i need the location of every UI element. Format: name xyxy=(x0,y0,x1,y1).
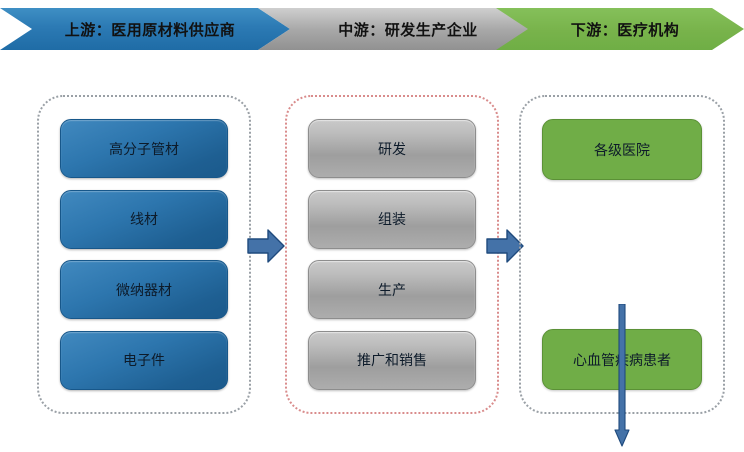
banner-segment-label: 下游：医疗机构 xyxy=(561,19,680,40)
node-label: 线材 xyxy=(130,209,158,229)
process-banner: 上游：医用原材料供应商 中游：研发生产企业 下游：医疗机构 xyxy=(0,8,744,50)
node-label: 生产 xyxy=(378,280,406,300)
node-promotion-and-sales[interactable]: 推广和销售 xyxy=(308,331,476,390)
column-downstream: 各级医院 心血管疾病患者 xyxy=(519,95,725,414)
node-label: 研发 xyxy=(378,139,406,159)
node-production[interactable]: 生产 xyxy=(308,260,476,319)
node-label: 各级医院 xyxy=(594,140,650,160)
node-assembly[interactable]: 组装 xyxy=(308,190,476,249)
node-label: 组装 xyxy=(378,209,406,229)
banner-segment-midstream[interactable]: 中游：研发生产企业 xyxy=(258,8,548,50)
node-label: 高分子管材 xyxy=(109,139,179,159)
arrow-upstream-to-midstream-icon xyxy=(246,228,286,264)
node-research-development[interactable]: 研发 xyxy=(308,119,476,178)
banner-segment-label: 上游：医用原材料供应商 xyxy=(55,19,236,40)
arrow-hospital-to-patient-icon xyxy=(614,304,630,447)
banner-segment-label: 中游：研发生产企业 xyxy=(328,19,478,40)
node-stack-downstream: 各级医院 心血管疾病患者 xyxy=(542,119,702,390)
node-label: 电子件 xyxy=(123,350,165,370)
node-hospitals[interactable]: 各级医院 xyxy=(542,119,702,180)
node-micro-nano-device[interactable]: 微纳器材 xyxy=(60,260,228,319)
node-label: 微纳器材 xyxy=(116,280,172,300)
banner-segment-upstream[interactable]: 上游：医用原材料供应商 xyxy=(0,8,290,50)
node-stack-upstream: 高分子管材 线材 微纳器材 电子件 xyxy=(60,119,228,390)
banner-segment-downstream[interactable]: 下游：医疗机构 xyxy=(496,8,744,50)
column-upstream: 高分子管材 线材 微纳器材 电子件 xyxy=(37,95,251,414)
node-wire-material[interactable]: 线材 xyxy=(60,190,228,249)
node-electronic-component[interactable]: 电子件 xyxy=(60,331,228,390)
node-label: 推广和销售 xyxy=(357,350,427,370)
node-polymer-tubing[interactable]: 高分子管材 xyxy=(60,119,228,178)
node-stack-midstream: 研发 组装 生产 推广和销售 xyxy=(308,119,476,390)
column-midstream: 研发 组装 生产 推广和销售 xyxy=(285,95,499,414)
